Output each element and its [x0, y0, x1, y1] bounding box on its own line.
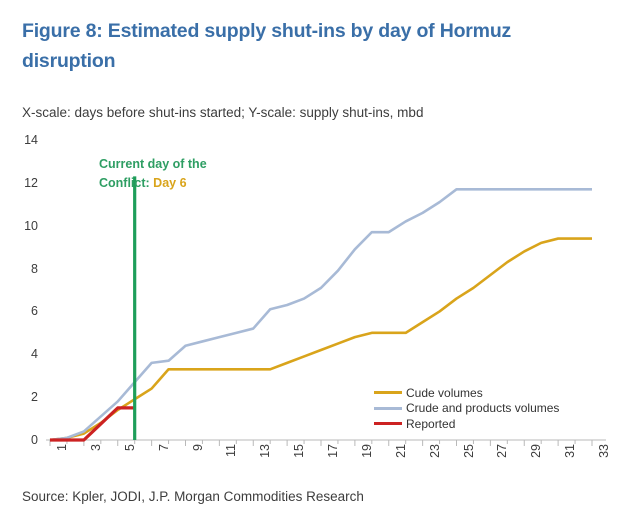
y-tick-label: 0: [0, 433, 38, 447]
x-tick-label: 13: [258, 444, 272, 458]
x-tick-label: 15: [292, 444, 306, 458]
x-tick-label: 25: [462, 444, 476, 458]
source-note: Source: Kpler, JODI, J.P. Morgan Commodi…: [22, 489, 364, 504]
figure-subtitle: X-scale: days before shut-ins started; Y…: [22, 104, 602, 122]
annotation-line-1: Current day of the: [99, 157, 207, 171]
x-tick-label: 1: [55, 444, 69, 451]
x-tick-label: 17: [326, 444, 340, 458]
x-tick-label: 23: [428, 444, 442, 458]
x-tick-label: 7: [157, 444, 171, 451]
x-tick-label: 9: [191, 444, 205, 451]
figure-panel: Figure 8: Estimated supply shut-ins by d…: [0, 0, 626, 525]
annotation-day-value: Day 6: [153, 176, 186, 190]
y-tick-label: 6: [0, 304, 38, 318]
chart-legend: Cude volumesCrude and products volumesRe…: [374, 385, 559, 432]
y-tick-label: 14: [0, 133, 38, 147]
legend-label: Reported: [406, 417, 455, 431]
x-tick-label: 29: [529, 444, 543, 458]
x-tick-label: 33: [597, 444, 611, 458]
chart-area: 02468101214 1357911131517192123252729313…: [0, 140, 626, 485]
x-tick-label: 19: [360, 444, 374, 458]
y-axis-labels: 02468101214: [0, 140, 44, 440]
x-tick-label: 21: [394, 444, 408, 458]
y-tick-label: 4: [0, 347, 38, 361]
current-day-annotation: Current day of the Conflict: Day 6: [99, 155, 279, 193]
legend-color-swatch: [374, 407, 402, 410]
y-tick-label: 10: [0, 219, 38, 233]
y-tick-label: 8: [0, 262, 38, 276]
annotation-line-2-prefix: Conflict:: [99, 176, 153, 190]
legend-label: Cude volumes: [406, 386, 483, 400]
x-tick-label: 5: [123, 444, 137, 451]
legend-color-swatch: [374, 391, 402, 394]
y-tick-label: 12: [0, 176, 38, 190]
x-tick-label: 27: [495, 444, 509, 458]
x-axis-labels: 13579111315171921232527293133: [46, 440, 606, 486]
legend-color-swatch: [374, 422, 402, 425]
legend-item[interactable]: Reported: [374, 416, 559, 432]
y-tick-label: 2: [0, 390, 38, 404]
x-tick-label: 11: [224, 444, 238, 457]
legend-item[interactable]: Cude volumes: [374, 385, 559, 401]
x-tick-label: 3: [89, 444, 103, 451]
legend-label: Crude and products volumes: [406, 401, 559, 415]
legend-item[interactable]: Crude and products volumes: [374, 401, 559, 417]
x-tick-label: 31: [563, 444, 577, 458]
figure-title: Figure 8: Estimated supply shut-ins by d…: [22, 16, 542, 76]
